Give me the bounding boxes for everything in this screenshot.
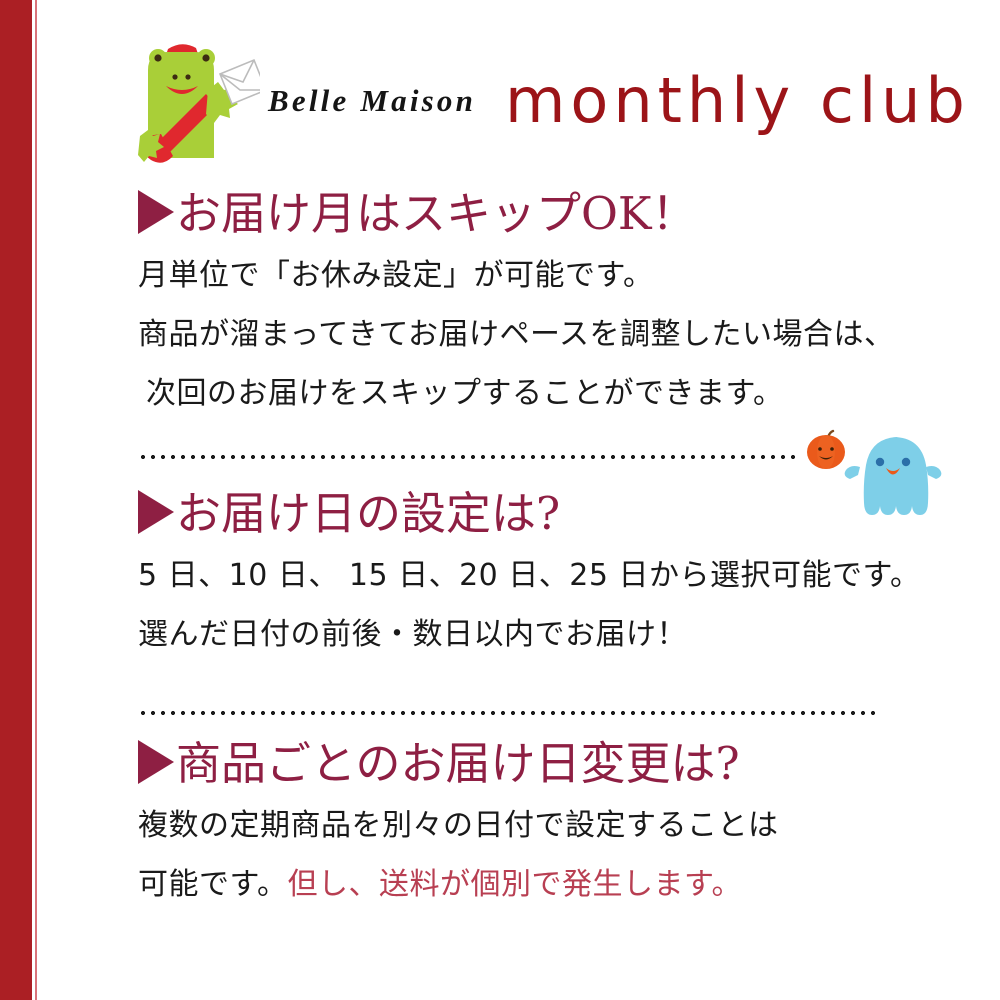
divider-2 (140, 710, 880, 716)
brand-name: Belle Maison (268, 83, 476, 119)
section-2-line-2: 選んだ日付の前後・数日以内でお届け！ (138, 605, 921, 664)
section-2-heading-text: お届け日の設定は? (176, 487, 560, 540)
pumpkin-icon (807, 431, 845, 469)
section-3-line-1: 複数の定期商品を別々の日付で設定することは (138, 796, 779, 855)
section-3-heading-text: 商品ごとのお届け日変更は? (176, 737, 740, 790)
left-accent-bar (0, 0, 32, 1000)
section-1-line-2: 商品が溜まってきてお届けペースを調整したい場合は、 (138, 305, 895, 364)
left-hairline-rule (35, 0, 37, 1000)
shipping-fee-note: 但し、送料が個別で発生します。 (288, 867, 743, 902)
club-title: monthly club (505, 70, 970, 132)
section-1-heading-text: お届け月はスキップOK！ (176, 187, 697, 240)
frog-mascot-icon (120, 32, 260, 172)
divider-1 (140, 454, 796, 460)
section-1-line-1: 月単位で「お休み設定」が可能です。 (138, 246, 895, 305)
section-3-line-2: 可能です。但し、送料が個別で発生します。 (138, 855, 779, 914)
page-header: Belle Maison monthly club (120, 28, 960, 168)
section-delivery-date: お届け日の設定は? 5 日、10 日、 15 日、20 日、25 日から選択可能… (138, 490, 921, 664)
section-2-heading: お届け日の設定は? (138, 490, 921, 538)
triangle-marker-icon (138, 190, 174, 234)
page-root: Belle Maison monthly club お届け月はスキップOK！ 月… (0, 0, 1000, 1000)
section-3-line-2-plain: 可能です。 (138, 867, 288, 902)
triangle-marker-icon (138, 490, 174, 534)
triangle-marker-icon (138, 740, 174, 784)
section-2-line-1: 5 日、10 日、 15 日、20 日、25 日から選択可能です。 (138, 546, 921, 605)
section-skip-month: お届け月はスキップOK！ 月単位で「お休み設定」が可能です。 商品が溜まってきて… (138, 190, 895, 423)
section-1-heading: お届け月はスキップOK！ (138, 190, 895, 238)
section-3-heading: 商品ごとのお届け日変更は? (138, 740, 779, 788)
section-1-line-3: 次回のお届けをスキップすることができます。 (138, 364, 895, 423)
section-per-item-change: 商品ごとのお届け日変更は? 複数の定期商品を別々の日付で設定することは 可能です… (138, 740, 779, 914)
